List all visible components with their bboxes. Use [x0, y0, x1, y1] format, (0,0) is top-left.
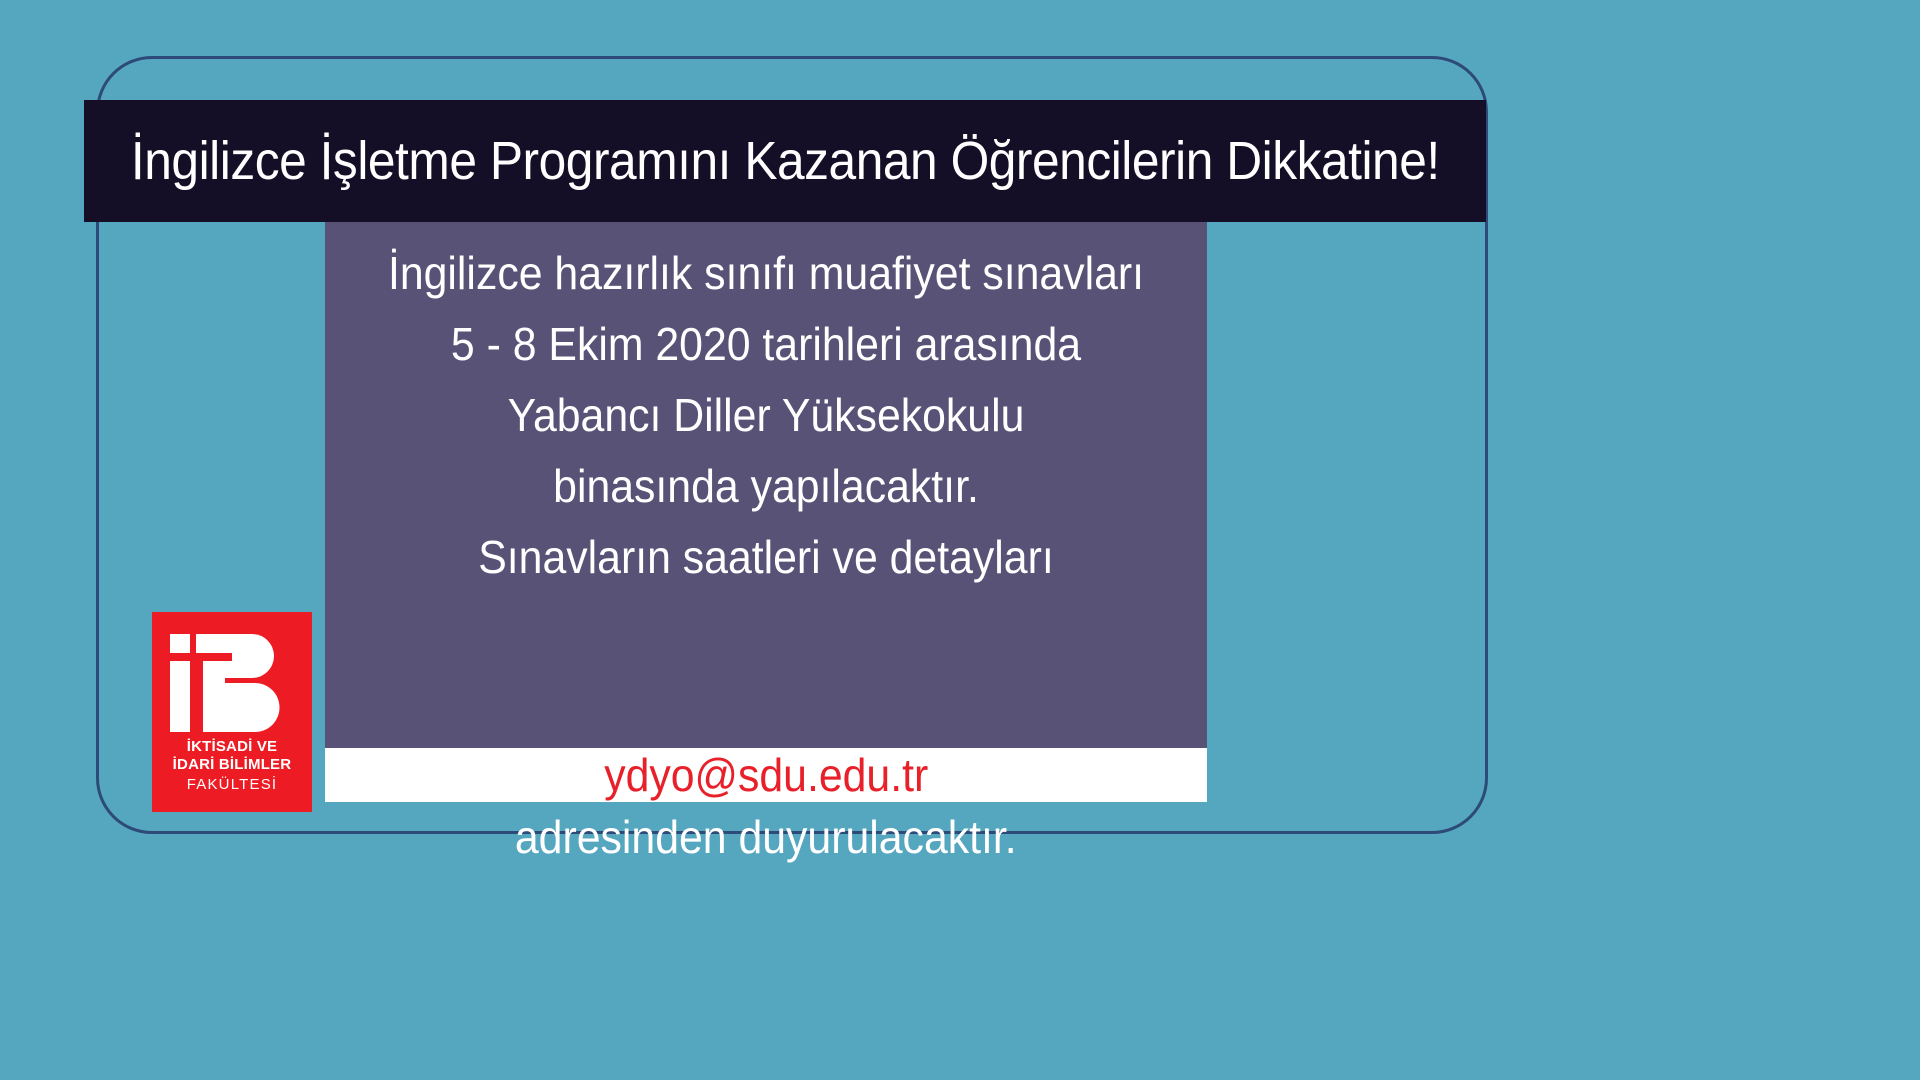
logo-line-2: İDARİ BİLİMLER [152, 756, 312, 773]
announcement-line-5: Sınavların saatleri ve detayları [356, 522, 1176, 593]
announcement-closing-line: adresinden duyurulacaktır. [515, 806, 1017, 868]
logo-line-1: İKTİSADİ VE [152, 738, 312, 755]
announcement-body: İngilizce hazırlık sınıfı muafiyet sınav… [325, 238, 1207, 593]
announcement-line-1: İngilizce hazırlık sınıfı muafiyet sınav… [356, 238, 1176, 309]
iibf-faculty-logo: İKTİSADİ VE İDARİ BİLİMLER FAKÜLTESİ [152, 612, 312, 812]
page-title: İngilizce İşletme Programını Kazanan Öğr… [131, 130, 1440, 192]
announcement-line-2: 5 - 8 Ekim 2020 tarihleri arasında [356, 309, 1176, 380]
announcement-closing-row: adresinden duyurulacaktır. [325, 806, 1207, 868]
announcement-line-3: Yabancı Diller Yüksekokulu [356, 380, 1176, 451]
header-band: İngilizce İşletme Programını Kazanan Öğr… [84, 100, 1486, 222]
logo-line-3: FAKÜLTESİ [152, 776, 312, 793]
announcement-line-4: binasında yapılacaktır. [356, 451, 1176, 522]
itb-monogram-icon [170, 634, 294, 732]
poster-canvas: İngilizce İşletme Programını Kazanan Öğr… [0, 0, 1920, 1080]
email-address[interactable]: ydyo@sdu.edu.tr [604, 744, 928, 806]
email-address-row: ydyo@sdu.edu.tr [325, 744, 1207, 806]
